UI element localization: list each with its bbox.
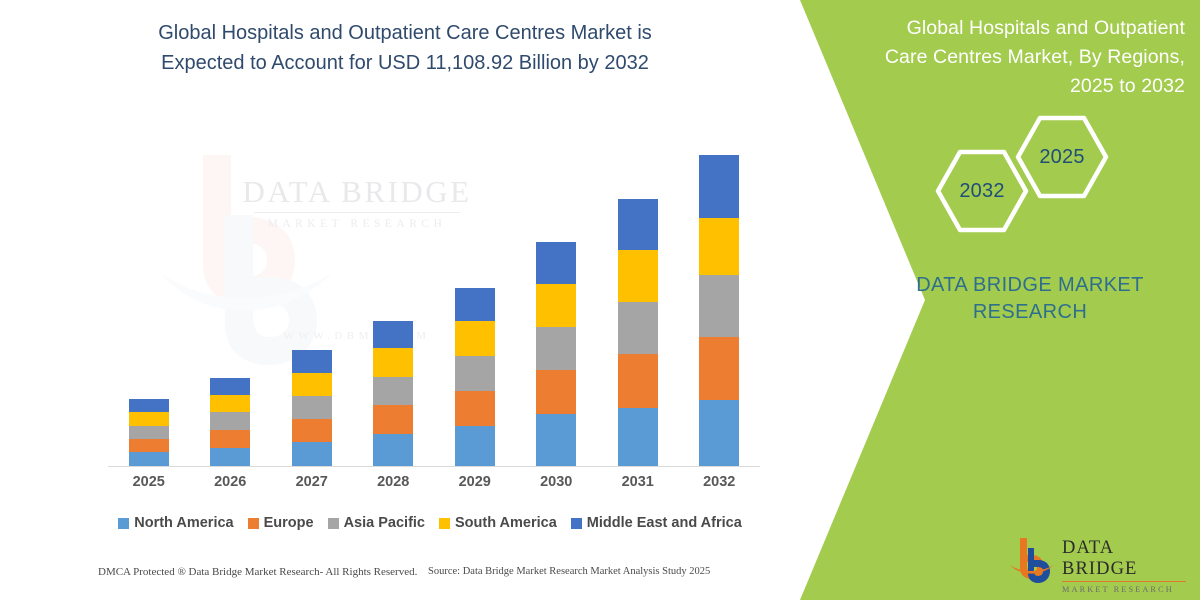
bar-segment[interactable] bbox=[618, 354, 658, 408]
data-bridge-logo-mark-icon bbox=[1008, 534, 1056, 584]
logo-text-line1: DATA BRIDGE bbox=[1062, 538, 1188, 580]
x-axis-label: 2026 bbox=[190, 474, 272, 490]
right-panel-title-line1: Global Hospitals and Outpatient bbox=[805, 14, 1185, 43]
legend-swatch-icon bbox=[248, 518, 259, 529]
bar-segment[interactable] bbox=[373, 434, 413, 466]
legend-label: Asia Pacific bbox=[344, 515, 425, 531]
bar-segment[interactable] bbox=[292, 419, 332, 442]
right-panel-title-line2: Care Centres Market, By Regions, bbox=[805, 43, 1185, 72]
bar-segment[interactable] bbox=[536, 242, 576, 284]
hexagon-badges: 2032 2025 bbox=[925, 115, 1115, 220]
footer: DMCA Protected ® Data Bridge Market Rese… bbox=[0, 566, 790, 588]
bar-segment[interactable] bbox=[129, 399, 169, 412]
bar-group[interactable] bbox=[210, 378, 250, 466]
infographic-page: Global Hospitals and Outpatient Care Cen… bbox=[0, 0, 1200, 600]
right-panel-brand-line1: DATA BRIDGE MARKET bbox=[880, 272, 1180, 299]
logo-text-line2: MARKET RESEARCH bbox=[1062, 584, 1188, 595]
page-title: Global Hospitals and Outpatient Care Cen… bbox=[60, 18, 750, 78]
x-axis-label: 2029 bbox=[434, 474, 516, 490]
bar-segment[interactable] bbox=[210, 430, 250, 448]
legend-item[interactable]: South America bbox=[439, 515, 557, 531]
x-axis-label: 2032 bbox=[679, 474, 761, 490]
bar-segment[interactable] bbox=[292, 350, 332, 373]
x-axis-labels: 20252026202720282029203020312032 bbox=[108, 474, 760, 498]
bar-segment[interactable] bbox=[536, 327, 576, 370]
logo-divider bbox=[1062, 581, 1186, 582]
bar-segment[interactable] bbox=[618, 302, 658, 354]
bar-segment[interactable] bbox=[129, 426, 169, 439]
data-bridge-logo-text: DATA BRIDGE MARKET RESEARCH bbox=[1062, 538, 1188, 595]
x-axis-line bbox=[108, 466, 760, 467]
bar-group[interactable] bbox=[373, 321, 413, 466]
right-panel-title-line3: 2025 to 2032 bbox=[805, 72, 1185, 101]
bar-group[interactable] bbox=[699, 155, 739, 466]
right-panel-title: Global Hospitals and Outpatient Care Cen… bbox=[805, 14, 1185, 101]
bar-segment[interactable] bbox=[373, 321, 413, 348]
bar-segment[interactable] bbox=[536, 284, 576, 327]
bar-group[interactable] bbox=[129, 399, 169, 466]
bar-segment[interactable] bbox=[699, 218, 739, 275]
stacked-bar-chart bbox=[108, 150, 760, 466]
bar-segment[interactable] bbox=[373, 377, 413, 405]
data-bridge-logo: DATA BRIDGE MARKET RESEARCH bbox=[1008, 534, 1188, 586]
hexagon-start-year-label: 2025 bbox=[1015, 115, 1109, 199]
legend-swatch-icon bbox=[328, 518, 339, 529]
bar-group[interactable] bbox=[618, 199, 658, 466]
bar-segment[interactable] bbox=[129, 452, 169, 466]
legend-item[interactable]: Asia Pacific bbox=[328, 515, 425, 531]
legend-swatch-icon bbox=[571, 518, 582, 529]
bar-segment[interactable] bbox=[699, 400, 739, 466]
legend-item[interactable]: North America bbox=[118, 515, 233, 531]
bar-segment[interactable] bbox=[618, 199, 658, 250]
legend-item[interactable]: Europe bbox=[248, 515, 314, 531]
bar-segment[interactable] bbox=[618, 408, 658, 466]
bar-group[interactable] bbox=[292, 350, 332, 466]
legend-label: Middle East and Africa bbox=[587, 515, 742, 531]
bar-segment[interactable] bbox=[618, 250, 658, 302]
footer-source: Source: Data Bridge Market Research Mark… bbox=[428, 566, 710, 577]
bar-segment[interactable] bbox=[699, 337, 739, 400]
legend-label: Europe bbox=[264, 515, 314, 531]
hexagon-badge-start-year: 2025 bbox=[1015, 115, 1109, 199]
bar-group[interactable] bbox=[455, 288, 495, 466]
bar-segment[interactable] bbox=[699, 275, 739, 337]
bar-segment[interactable] bbox=[455, 356, 495, 391]
bar-segment[interactable] bbox=[129, 412, 169, 426]
bar-segment[interactable] bbox=[373, 348, 413, 377]
legend-item[interactable]: Middle East and Africa bbox=[571, 515, 742, 531]
footer-copyright: DMCA Protected ® Data Bridge Market Rese… bbox=[98, 566, 417, 578]
bar-segment[interactable] bbox=[373, 405, 413, 434]
x-axis-label: 2027 bbox=[271, 474, 353, 490]
page-title-line1: Global Hospitals and Outpatient Care Cen… bbox=[60, 18, 750, 48]
page-title-line2: Expected to Account for USD 11,108.92 Bi… bbox=[60, 48, 750, 78]
bar-segment[interactable] bbox=[455, 288, 495, 321]
x-axis-label: 2031 bbox=[597, 474, 679, 490]
bar-group[interactable] bbox=[536, 242, 576, 466]
bar-segment[interactable] bbox=[536, 414, 576, 466]
bar-segment[interactable] bbox=[210, 378, 250, 395]
bar-segment[interactable] bbox=[292, 442, 332, 466]
x-axis-label: 2030 bbox=[516, 474, 598, 490]
x-axis-label: 2025 bbox=[108, 474, 190, 490]
legend-label: South America bbox=[455, 515, 557, 531]
right-panel-brand-line2: RESEARCH bbox=[880, 299, 1180, 326]
x-axis-label: 2028 bbox=[353, 474, 435, 490]
bar-segment[interactable] bbox=[455, 426, 495, 466]
bar-segment[interactable] bbox=[210, 448, 250, 466]
legend-label: North America bbox=[134, 515, 233, 531]
bar-segment[interactable] bbox=[536, 370, 576, 414]
bar-segment[interactable] bbox=[210, 412, 250, 430]
bar-segment[interactable] bbox=[455, 321, 495, 356]
bar-segment[interactable] bbox=[210, 395, 250, 412]
bar-segment[interactable] bbox=[292, 396, 332, 419]
chart-legend: North AmericaEuropeAsia PacificSouth Ame… bbox=[90, 511, 770, 535]
right-panel-brand: DATA BRIDGE MARKET RESEARCH bbox=[880, 272, 1180, 326]
bar-segment[interactable] bbox=[699, 155, 739, 218]
legend-swatch-icon bbox=[439, 518, 450, 529]
bar-segment[interactable] bbox=[129, 439, 169, 452]
bar-segment[interactable] bbox=[292, 373, 332, 396]
bar-segment[interactable] bbox=[455, 391, 495, 426]
legend-swatch-icon bbox=[118, 518, 129, 529]
